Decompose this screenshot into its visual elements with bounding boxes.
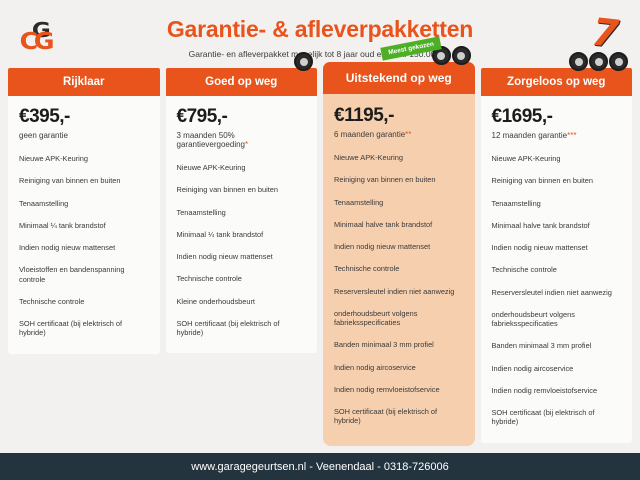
package-feature: Tenaamstelling	[492, 199, 622, 208]
package-feature: Nieuwe APK-Keuring	[334, 153, 464, 162]
package-feature: Indien nodig remvloeistofservice	[334, 385, 464, 394]
package-price-note-asterisks: ***	[567, 131, 576, 140]
package-title: Rijklaar	[8, 68, 160, 96]
package-cards: Rijklaar€395,-geen garantieNieuwe APK-Ke…	[0, 68, 640, 446]
tire-icon	[294, 52, 313, 71]
tire-icon	[609, 52, 628, 71]
package-body: €395,-geen garantieNieuwe APK-KeuringRei…	[8, 96, 160, 354]
package-feature: Minimaal halve tank brandstof	[492, 221, 622, 230]
tire-icon	[589, 52, 608, 71]
package-feature: SOH certificaat (bij elektrisch of hybri…	[492, 408, 622, 427]
seven-badge-icon: 7	[590, 13, 620, 54]
garage-geurtsen-logo: G CG	[18, 18, 64, 58]
package-price: €1195,-	[334, 105, 464, 127]
package-feature: Indien nodig nieuw mattenset	[334, 242, 464, 251]
package-feature: Tenaamstelling	[19, 199, 149, 208]
package-price-note-text: geen garantie	[19, 131, 68, 140]
package-title: Goed op weg	[166, 68, 318, 96]
package-feature: Reiniging van binnen en buiten	[334, 175, 464, 184]
package-feature: Vloeistoffen en bandenspanning controle	[19, 265, 149, 284]
package-feature: onderhoudsbeurt volgens fabrieksspecific…	[492, 310, 622, 329]
poster: G CG 7 Garantie- & afleverpakketten Gara…	[0, 0, 640, 480]
package-feature: Reiniging van binnen en buiten	[19, 176, 149, 185]
package-price-note-text: 3 maanden 50% garantievergoeding	[177, 131, 246, 149]
package-feature: Indien nodig nieuw mattenset	[177, 252, 307, 261]
package-price-note-asterisks: *	[245, 140, 248, 149]
package-feature: Nieuwe APK-Keuring	[19, 154, 149, 163]
package-body: €1195,-6 maanden garantie**Nieuwe APK-Ke…	[323, 94, 475, 446]
package-feature: SOH certificaat (bij elektrisch of hybri…	[19, 319, 149, 338]
package-price-note-text: 12 maanden garantie	[492, 131, 568, 140]
package-price-note: 12 maanden garantie***	[492, 131, 622, 140]
package-feature: Indien nodig nieuw mattenset	[19, 243, 149, 252]
package-feature: Kleine onderhoudsbeurt	[177, 297, 307, 306]
page-subtitle: Garantie- en afleverpakket mogelijk tot …	[0, 49, 640, 59]
package-feature: Reserversleutel indien niet aanwezig	[334, 287, 464, 296]
package-price: €1695,-	[492, 106, 622, 128]
logo-orange-letters: CG	[20, 29, 51, 55]
poster-header: G CG 7 Garantie- & afleverpakketten Gara…	[0, 0, 640, 68]
package-feature: Indien nodig remvloeistofservice	[492, 386, 622, 395]
package-card[interactable]: Goed op weg€795,-3 maanden 50% garantiev…	[166, 68, 318, 353]
page-title: Garantie- & afleverpakketten	[0, 0, 640, 43]
package-price-note-text: 6 maanden garantie	[334, 130, 405, 139]
package-price: €795,-	[177, 106, 307, 128]
package-price-note-asterisks: **	[405, 130, 411, 139]
package-body: €1695,-12 maanden garantie***Nieuwe APK-…	[481, 96, 633, 443]
package-feature: Nieuwe APK-Keuring	[177, 163, 307, 172]
package-title: Uitstekend op weg	[323, 62, 475, 94]
package-feature: Indien nodig aircoservice	[492, 364, 622, 373]
package-title: Zorgeloos op weg	[481, 68, 633, 96]
package-feature: Indien nodig nieuw mattenset	[492, 243, 622, 252]
package-feature: Minimaal ¼ tank brandstof	[19, 221, 149, 230]
package-feature: Reiniging van binnen en buiten	[492, 176, 622, 185]
package-feature: Banden minimaal 3 mm profiel	[334, 340, 464, 349]
tire-icon	[569, 52, 588, 71]
package-feature: Minimaal halve tank brandstof	[334, 220, 464, 229]
tire-rating	[294, 52, 313, 71]
package-feature: Minimaal ¼ tank brandstof	[177, 230, 307, 239]
package-feature: Tenaamstelling	[334, 198, 464, 207]
package-body: €795,-3 maanden 50% garantievergoeding*N…	[166, 96, 318, 353]
package-feature: Technische controle	[334, 264, 464, 273]
package-feature: Tenaamstelling	[177, 208, 307, 217]
tire-rating	[569, 52, 628, 71]
package-card[interactable]: Meest gekozenUitstekend op weg€1195,-6 m…	[323, 62, 475, 446]
package-feature: Technische controle	[19, 297, 149, 306]
footer-contact: www.garagegeurtsen.nl - Veenendaal - 031…	[191, 461, 448, 473]
package-card[interactable]: Rijklaar€395,-geen garantieNieuwe APK-Ke…	[8, 68, 160, 354]
tire-icon	[452, 46, 471, 65]
package-feature: Indien nodig aircoservice	[334, 363, 464, 372]
package-feature: onderhoudsbeurt volgens fabrieksspecific…	[334, 309, 464, 328]
package-feature: Reserversleutel indien niet aanwezig	[492, 288, 622, 297]
package-feature: SOH certificaat (bij elektrisch of hybri…	[177, 319, 307, 338]
package-price: €395,-	[19, 106, 149, 128]
package-feature: SOH certificaat (bij elektrisch of hybri…	[334, 407, 464, 426]
package-card[interactable]: Zorgeloos op weg€1695,-12 maanden garant…	[481, 68, 633, 443]
package-feature: Nieuwe APK-Keuring	[492, 154, 622, 163]
package-price-note: geen garantie	[19, 131, 149, 140]
package-price-note: 3 maanden 50% garantievergoeding*	[177, 131, 307, 149]
package-price-note: 6 maanden garantie**	[334, 130, 464, 139]
package-feature: Technische controle	[492, 265, 622, 274]
package-feature: Banden minimaal 3 mm profiel	[492, 341, 622, 350]
package-feature: Reiniging van binnen en buiten	[177, 185, 307, 194]
footer-bar: www.garagegeurtsen.nl - Veenendaal - 031…	[0, 453, 640, 480]
package-feature: Technische controle	[177, 274, 307, 283]
